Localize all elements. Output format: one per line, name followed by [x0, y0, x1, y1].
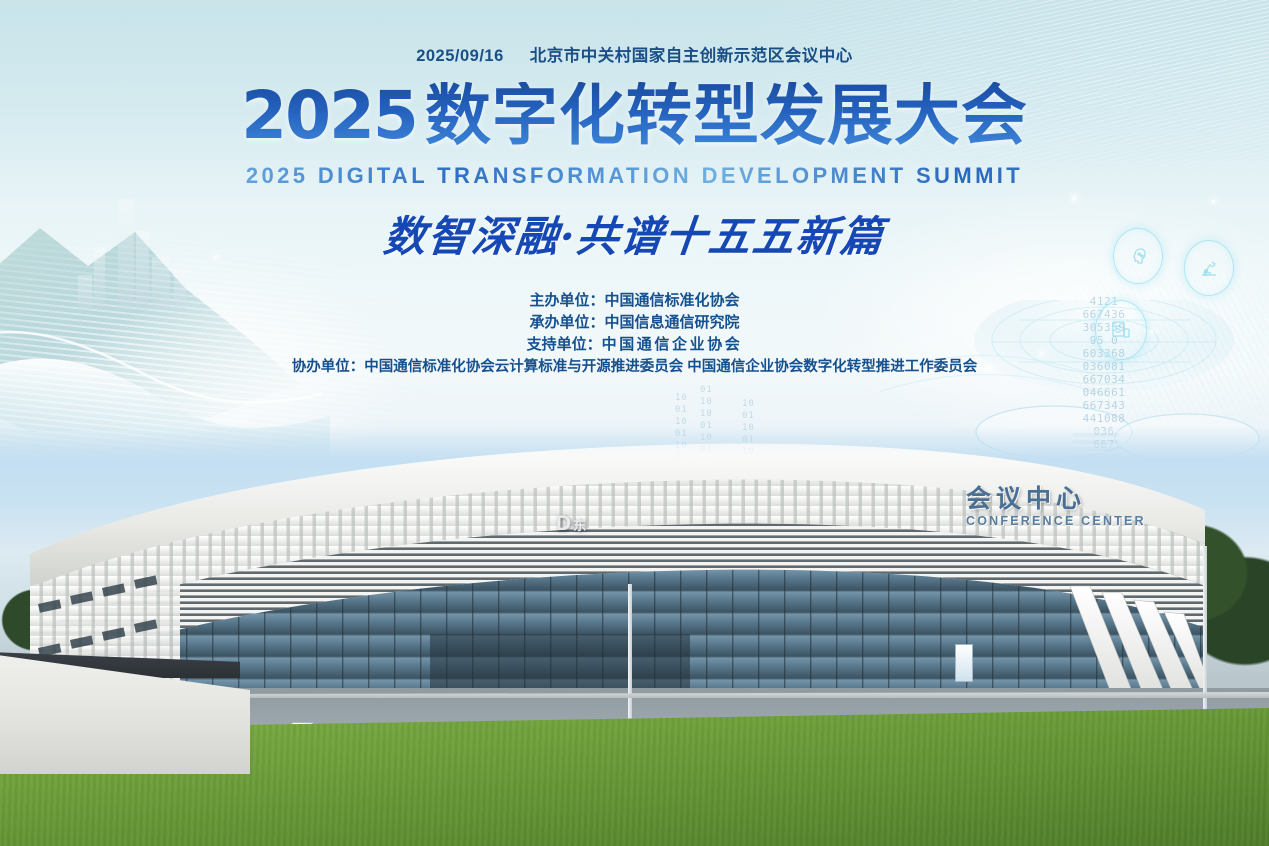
title-year: 2025	[241, 77, 417, 154]
entrance-marker: D东	[556, 512, 586, 536]
event-date: 2025/09/16	[416, 47, 504, 65]
organizer-role: 主办单位：	[529, 292, 604, 309]
page-title: 2025数字化转型发展大会	[0, 82, 1269, 149]
organizer-name: 中国通信标准化协会云计算标准与开源推进委员会 中国通信企业协会数字化转型推进工作…	[364, 359, 977, 375]
organizer-row: 主办单位：中国通信标准化协会	[0, 290, 1269, 312]
event-meta: 2025/09/16北京市中关村国家自主创新示范区会议中心	[0, 42, 1269, 66]
building-sign-en: CONFERENCE CENTER	[966, 514, 1146, 528]
organizer-name: 中国通信标准化协会	[605, 292, 740, 309]
venue-photograph: 会议中心 CONFERENCE CENTER D东	[0, 426, 1269, 846]
entrance-direction: 东	[573, 518, 586, 533]
organizer-row: 承办单位：中国信息通信研究院	[0, 312, 1269, 334]
organizer-role: 协办单位：	[292, 359, 365, 375]
entrance-banner	[955, 644, 973, 682]
title-en: 2025 DIGITAL TRANSFORMATION DEVELOPMENT …	[0, 163, 1269, 189]
organizer-name: 中国信息通信研究院	[605, 314, 740, 331]
title-cn: 数字化转型发展大会	[425, 78, 1028, 152]
organizer-row: 协办单位：中国通信标准化协会云计算标准与开源推进委员会 中国通信企业协会数字化转…	[0, 356, 1269, 378]
building-sign-cn: 会议中心	[966, 479, 1086, 515]
event-venue: 北京市中关村国家自主创新示范区会议中心	[530, 47, 853, 65]
organizer-role: 支持单位：	[527, 336, 602, 353]
organizer-row: 支持单位：中国通信企业协会	[0, 334, 1269, 356]
conference-poster: 4121 667436 305359 95 0 603368 036081 66…	[0, 0, 1269, 846]
organizer-list: 主办单位：中国通信标准化协会 承办单位：中国信息通信研究院 支持单位：中国通信企…	[0, 290, 1269, 378]
poster-text-block: 2025/09/16北京市中关村国家自主创新示范区会议中心 2025数字化转型发…	[0, 0, 1269, 378]
organizer-role: 承办单位：	[529, 314, 604, 331]
organizer-name: 中国通信企业协会	[602, 336, 743, 353]
event-slogan: 数智深融·共谱十五五新篇	[0, 203, 1269, 264]
entrance-letter: D	[556, 512, 571, 535]
